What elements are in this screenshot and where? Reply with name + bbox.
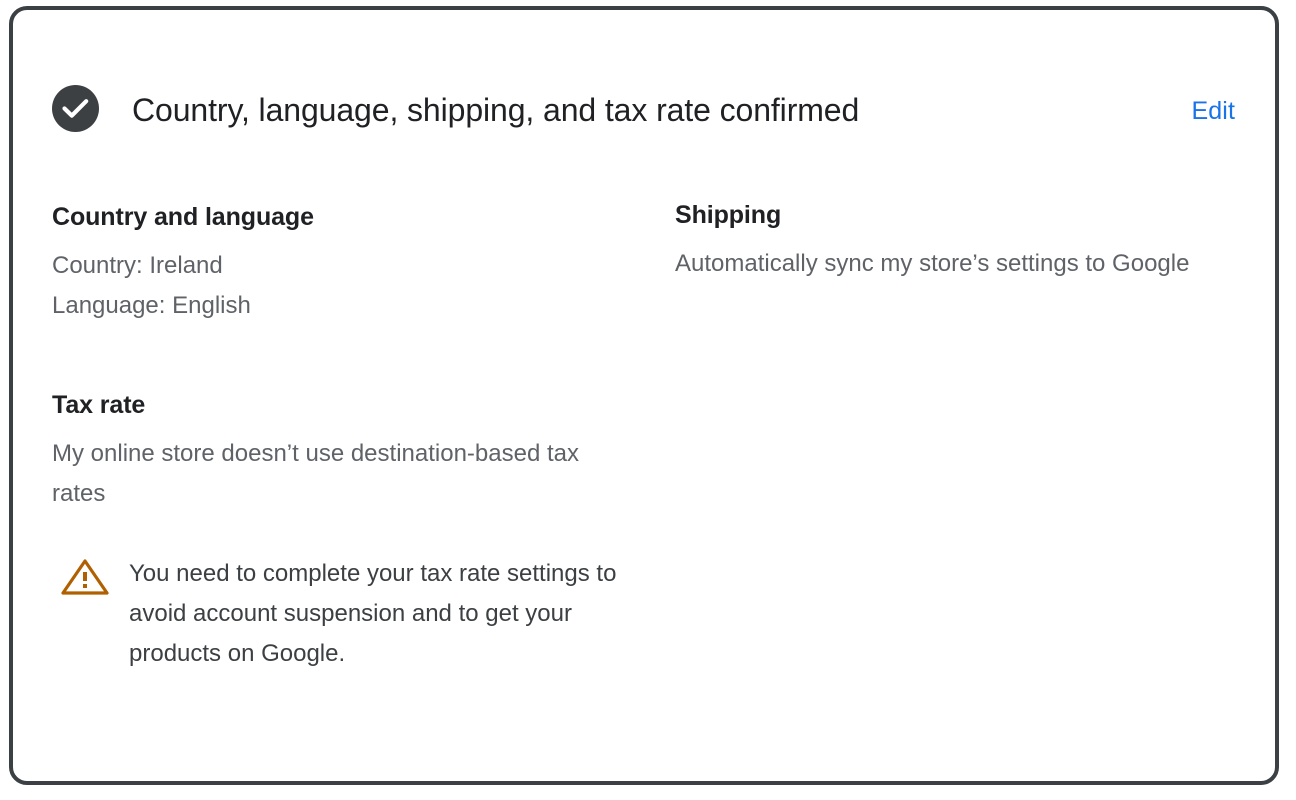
edit-link[interactable]: Edit: [1192, 94, 1235, 128]
right-column: Shipping Automatically sync my store’s s…: [675, 198, 1235, 284]
section-body-shipping: Automatically sync my store’s settings t…: [675, 244, 1215, 284]
section-country-and-language: Country and language Country: IrelandLan…: [52, 200, 652, 326]
section-tax-rate: Tax rate My online store doesn’t use des…: [52, 388, 652, 674]
section-body-country-and-language: Country: IrelandLanguage: English: [52, 246, 592, 326]
confirmation-card: Country, language, shipping, and tax rat…: [9, 6, 1279, 785]
card-header: Country, language, shipping, and tax rat…: [13, 10, 1275, 160]
tax-rate-warning: You need to complete your tax rate setti…: [52, 554, 652, 674]
section-shipping: Shipping Automatically sync my store’s s…: [675, 198, 1235, 284]
check-circle-icon: [52, 85, 99, 132]
section-title-country-and-language: Country and language: [52, 200, 652, 234]
left-column: Country and language Country: IrelandLan…: [52, 200, 652, 674]
warning-triangle-icon: [60, 558, 110, 596]
section-title-shipping: Shipping: [675, 198, 1235, 232]
section-body-tax-rate: My online store doesn’t use destination-…: [52, 434, 597, 514]
screen: Country, language, shipping, and tax rat…: [0, 0, 1296, 800]
card-inner: Country, language, shipping, and tax rat…: [13, 10, 1275, 781]
page-title: Country, language, shipping, and tax rat…: [132, 88, 859, 132]
tax-rate-warning-text: You need to complete your tax rate setti…: [129, 554, 629, 674]
section-title-tax-rate: Tax rate: [52, 388, 652, 422]
